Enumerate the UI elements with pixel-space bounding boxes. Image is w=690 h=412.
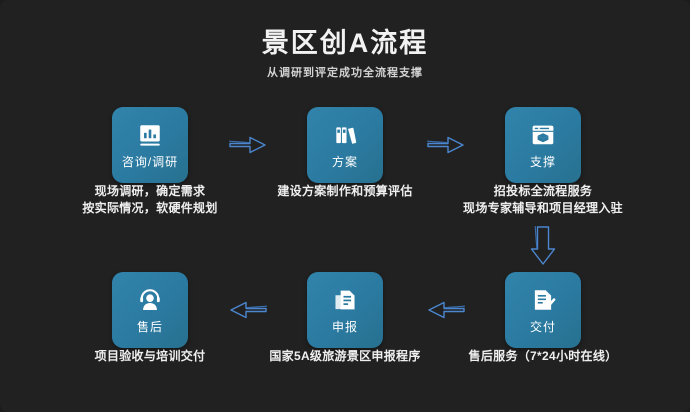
bar-chart-icon [137,122,163,148]
flow-node-label: 支撑 [530,155,556,169]
flow-node-label: 方案 [332,155,358,169]
document-check-icon [530,287,556,313]
window-package-icon [530,122,556,148]
books-icon [332,122,358,148]
flow-node-application[interactable]: 申报 [307,272,383,348]
page-title: 景区创A流程 [0,26,690,60]
flow-connector-left-icon [426,297,466,323]
flow-node-aftersales[interactable]: 售后 [112,272,188,348]
flow-node-label: 咨询/调研 [122,155,178,169]
caption-line: 项目验收与培训交付 [0,348,300,365]
flow-connector-down-icon [523,225,563,267]
page-subtitle: 从调研到评定成功全流程支撑 [0,66,690,81]
flow-node-delivery[interactable]: 交付 [505,272,581,348]
flow-node-support[interactable]: 支撑 [505,107,581,183]
flow-node-label: 交付 [530,320,556,334]
flow-node-label: 售后 [137,320,163,334]
flow-diagram-canvas: 景区创A流程 从调研到评定成功全流程支撑 咨询/调研 现场调研，确定需求 按实际… [0,0,690,412]
flow-connector-right-icon [228,132,268,158]
flow-connector-left-icon [228,297,268,323]
flow-node-consult[interactable]: 咨询/调研 [112,107,188,183]
header: 景区创A流程 从调研到评定成功全流程支撑 [0,26,690,81]
flow-node-plan[interactable]: 方案 [307,107,383,183]
flow-node-label: 申报 [332,320,358,334]
flow-connector-right-icon [426,132,466,158]
caption-line: 现场专家辅导和项目经理入驻 [393,200,690,217]
caption-line: 按实际情况，软硬件规划 [0,200,300,217]
caption-line: 招投标全流程服务 [393,183,690,200]
flow-node-caption-support: 招投标全流程服务 现场专家辅导和项目经理入驻 [393,183,690,217]
headset-person-icon [137,287,163,313]
flow-node-caption-aftersales: 项目验收与培训交付 [0,348,300,365]
document-pages-icon [332,287,358,313]
